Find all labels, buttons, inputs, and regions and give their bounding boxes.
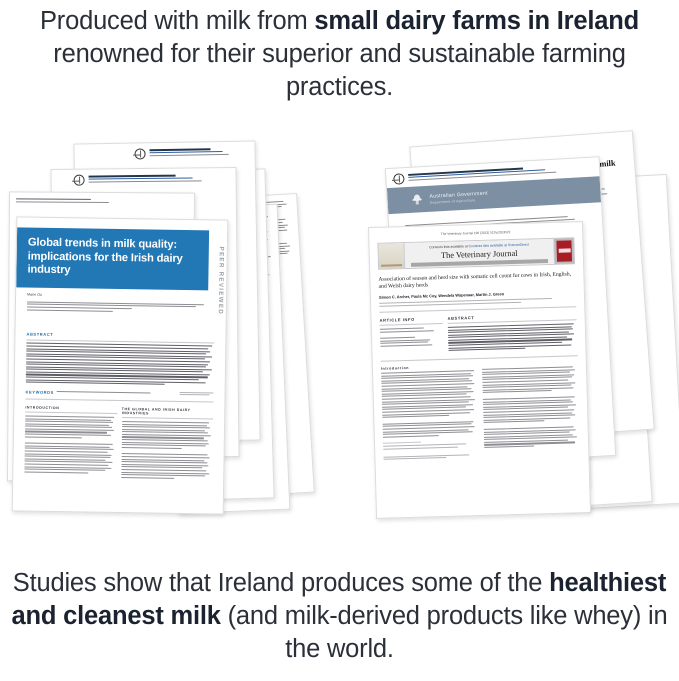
vj-article-title: Association of season and herd size with… xyxy=(378,271,575,291)
headline-bottom-part-2: (and milk-derived products like whey) in… xyxy=(221,602,668,663)
headline-top-bold: small dairy farms in Ireland xyxy=(314,7,639,35)
aus-gov-label: Australian Government Department of Agri… xyxy=(429,190,488,204)
global-industries-heading: THE GLOBAL AND IRISH DAIRY INDUSTRIES xyxy=(122,407,214,416)
vj-cover-thumbnail xyxy=(553,238,574,264)
headline-top: Produced with milk from small dairy farm… xyxy=(0,5,679,104)
headline-top-part-2: renowned for their superior and sustaina… xyxy=(53,40,625,101)
vj-article-info-heading: ARTICLE INFO xyxy=(379,316,442,323)
vj-masthead: Contents lists available at Contents lis… xyxy=(377,237,575,269)
journal-globe-icon xyxy=(393,173,405,185)
headline-bottom: Studies show that Ireland produces some … xyxy=(0,567,679,666)
coat-of-arms-icon xyxy=(409,193,425,207)
document-veterinary-journal: The Veterinary Journal 196 (2013) 515\u2… xyxy=(368,221,591,519)
infographic-page: Produced with milk from small dairy farm… xyxy=(0,0,679,681)
journal-header-1 xyxy=(74,141,254,163)
introduction-heading: INTRODUCTION xyxy=(25,405,117,410)
journal-globe-icon-1b xyxy=(74,175,85,186)
document-collage: A study of the somatic cell count (SCC) … xyxy=(0,130,679,550)
keywords-heading: KEYWORDS xyxy=(26,389,54,394)
document-global-trends: PEER REVIEWED Global trends in milk qual… xyxy=(12,216,229,514)
global-trends-title: Global trends in milk quality: implicati… xyxy=(27,237,182,277)
journal-header-1b xyxy=(51,168,235,189)
peer-reviewed-label: PEER REVIEWED xyxy=(217,247,225,316)
global-trends-banner: Global trends in milk quality: implicati… xyxy=(16,227,209,290)
vj-publisher-logo xyxy=(378,243,405,269)
journal-globe-icon-1 xyxy=(134,148,145,159)
headline-bottom-part-1: Studies show that Ireland produces some … xyxy=(13,569,549,597)
vj-introduction-heading: Introduction xyxy=(381,364,477,371)
headline-top-part-1: Produced with milk from xyxy=(40,7,314,35)
global-trends-author: Marie Ou xyxy=(27,292,226,299)
